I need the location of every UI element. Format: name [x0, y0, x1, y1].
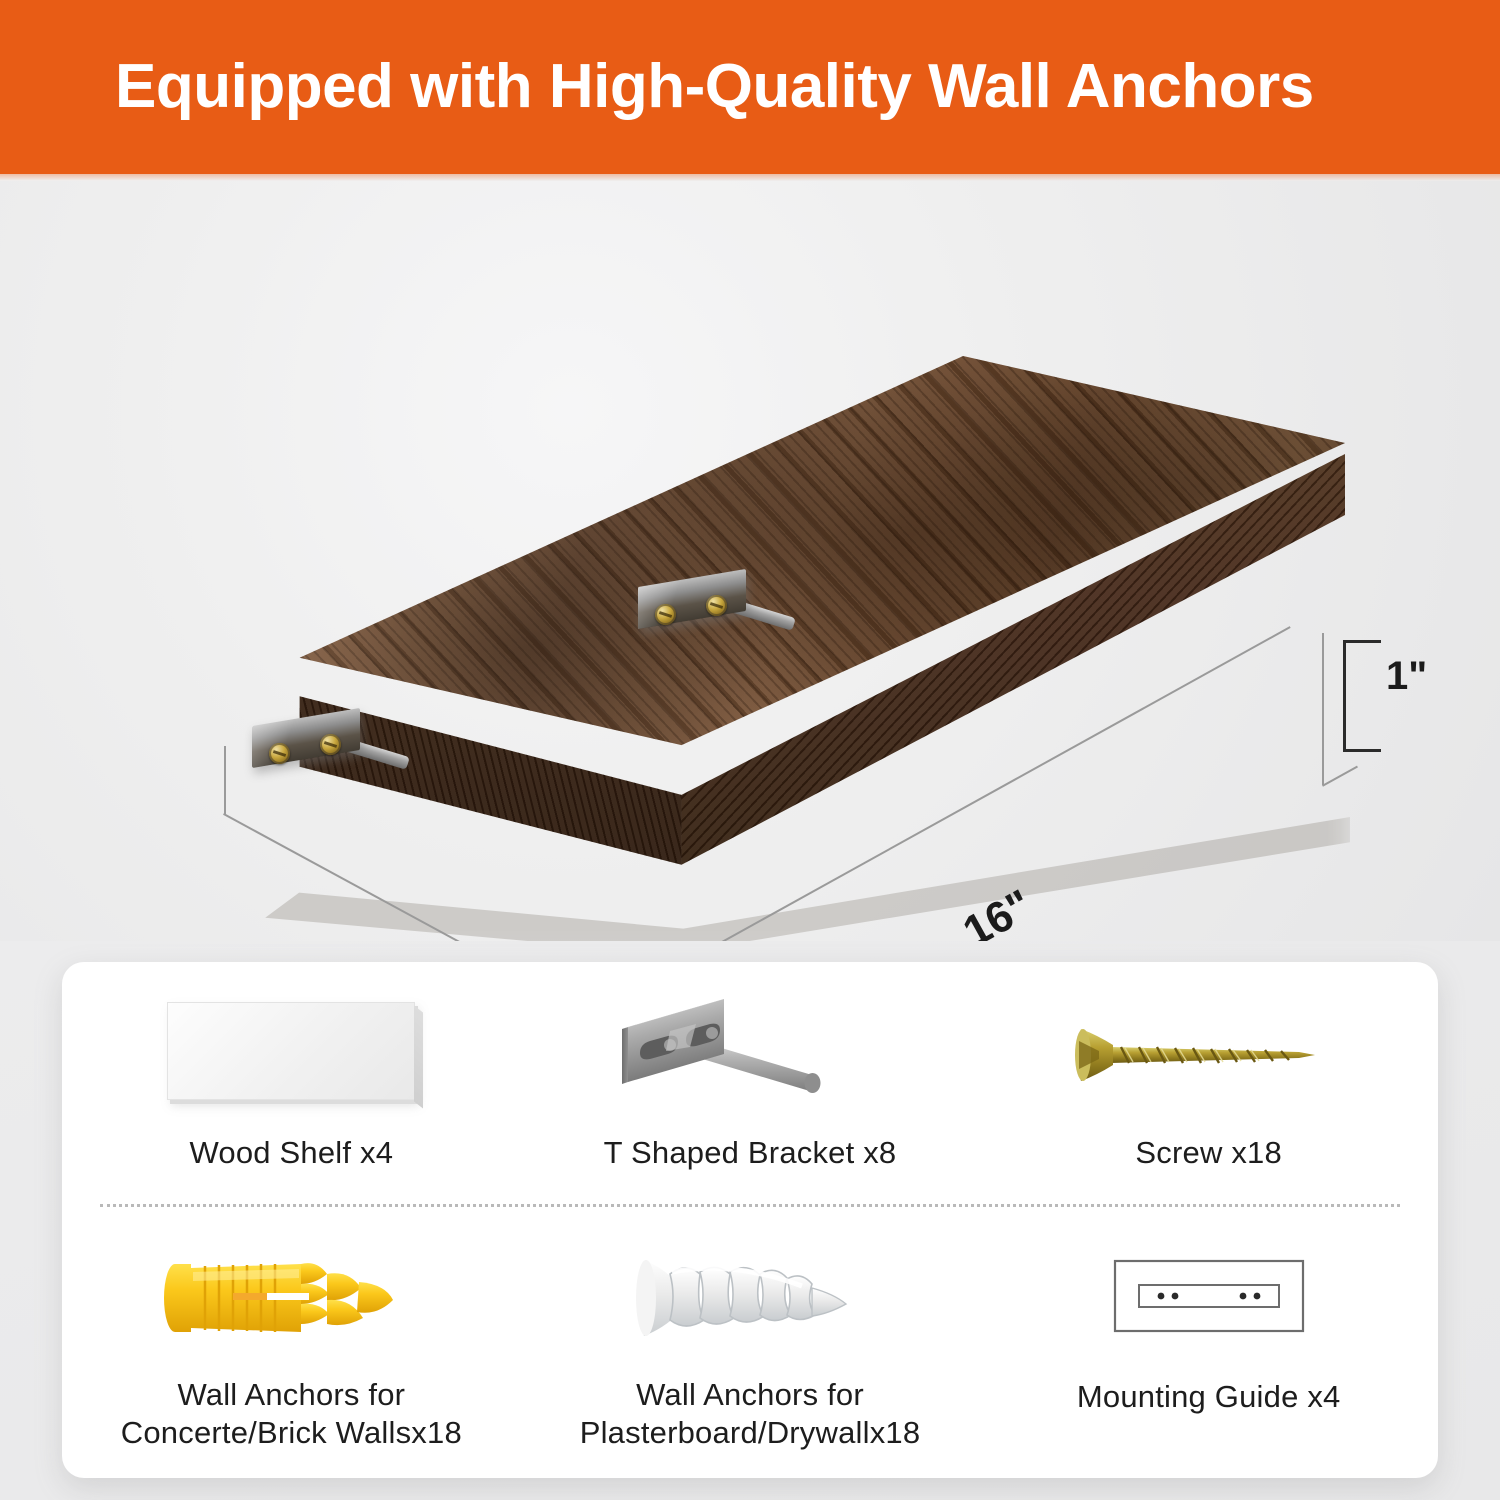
part-item-concrete-anchor[interactable]: Wall Anchors for Concerte/Brick Wallsx18: [62, 1234, 521, 1452]
part-label-line1: Wall Anchors for: [177, 1377, 405, 1412]
part-label-line1: Wall Anchors for: [636, 1377, 864, 1412]
mounting-guide-svg: [1059, 1239, 1359, 1359]
part-item-t-bracket[interactable]: T Shaped Bracket x8: [521, 990, 980, 1200]
bracket-screw-left-b: [320, 734, 341, 755]
part-label: Mounting Guide x4: [1077, 1378, 1341, 1416]
part-label: Wood Shelf x4: [190, 1134, 394, 1172]
thickness-bracket-bottom: [1343, 749, 1381, 752]
page-title: Equipped with High-Quality Wall Anchors: [115, 56, 1314, 118]
parts-row-1: Wood Shelf x4: [62, 990, 1438, 1200]
wood-shelf-icon: [62, 990, 521, 1120]
screw-icon: [979, 990, 1438, 1120]
drywall-anchor-svg: [600, 1238, 900, 1358]
banner-glow: [0, 174, 1500, 181]
product-hero-image: 1" 16" 6.7": [0, 181, 1500, 941]
dimension-label-thickness: 1": [1386, 654, 1427, 699]
parts-row-2: Wall Anchors for Concerte/Brick Wallsx18: [62, 1234, 1438, 1452]
product-infographic: Equipped with High-Quality Wall Anchors: [0, 0, 1500, 1500]
bracket-screw-left-a: [269, 743, 290, 764]
parts-divider: [100, 1204, 1400, 1207]
screw-svg: [1059, 991, 1359, 1119]
thickness-bracket-stem: [1343, 640, 1346, 752]
dimension-line-right-drop: [1322, 633, 1324, 785]
part-item-mounting-guide[interactable]: Mounting Guide x4: [979, 1234, 1438, 1452]
bracket-screw-right-b: [706, 595, 727, 616]
part-item-screw[interactable]: Screw x18: [979, 990, 1438, 1200]
header-banner: Equipped with High-Quality Wall Anchors: [0, 0, 1500, 174]
bracket-screw-right-a: [655, 604, 676, 625]
part-label-line2: Plasterboard/Drywallx18: [580, 1415, 921, 1450]
part-label-line2: Concerte/Brick Wallsx18: [121, 1415, 462, 1450]
dimension-line-right-diagonal: [1322, 766, 1358, 787]
part-label: Screw x18: [1135, 1134, 1282, 1172]
mounting-guide-icon: [979, 1234, 1438, 1364]
shelf-illustration: 1" 16" 6.7": [0, 181, 1500, 941]
part-item-wood-shelf[interactable]: Wood Shelf x4: [62, 990, 521, 1200]
t-bracket-icon: [521, 990, 980, 1120]
dimension-line-depth-tick: [224, 746, 226, 814]
part-label: Wall Anchors for Concerte/Brick Wallsx18: [121, 1376, 462, 1452]
concrete-anchor-svg: [141, 1238, 441, 1358]
thickness-bracket-top: [1343, 640, 1381, 643]
part-item-drywall-anchor[interactable]: Wall Anchors for Plasterboard/Drywallx18: [521, 1234, 980, 1452]
concrete-anchor-icon: [62, 1234, 521, 1362]
parts-list-card: Wood Shelf x4: [62, 962, 1438, 1478]
part-label: Wall Anchors for Plasterboard/Drywallx18: [580, 1376, 921, 1452]
t-bracket-svg: [600, 991, 900, 1119]
part-label: T Shaped Bracket x8: [604, 1134, 897, 1172]
drywall-anchor-icon: [521, 1234, 980, 1362]
